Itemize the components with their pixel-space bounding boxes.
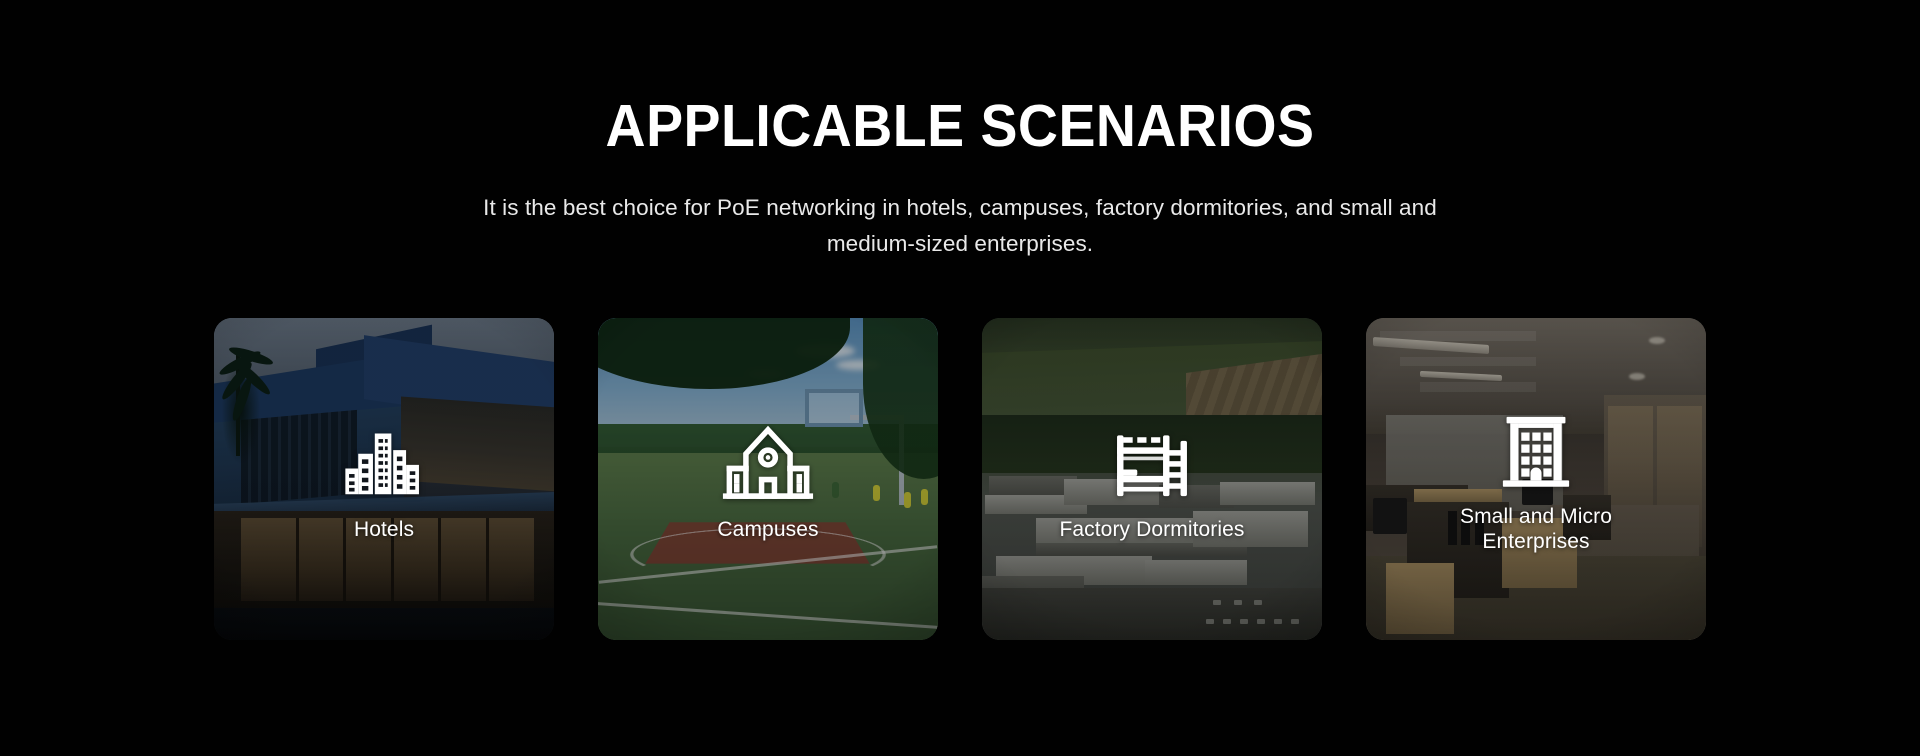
scenario-card-factory-dormitories[interactable]: Factory Dormitories — [982, 318, 1322, 640]
scenario-card-label: Hotels — [354, 517, 414, 542]
scenario-card-campuses[interactable]: Campuses — [598, 318, 938, 640]
scenario-card-label: Factory Dormitories — [1059, 517, 1244, 542]
skyscrapers-icon — [338, 417, 430, 509]
page-subtitle: It is the best choice for PoE networking… — [480, 190, 1440, 262]
scenario-card-list: Hotels — [214, 318, 1708, 640]
bunk-bed-icon — [1106, 417, 1198, 509]
scenario-card-label: Small and Micro Enterprises — [1460, 504, 1612, 554]
page-title: APPLICABLE SCENARIOS — [58, 96, 1863, 158]
school-building-icon — [722, 417, 814, 509]
scenarios-section: APPLICABLE SCENARIOS It is the best choi… — [0, 0, 1920, 756]
scenario-card-small-micro-enterprises[interactable]: Small and Micro Enterprises — [1366, 318, 1706, 640]
office-building-icon — [1490, 404, 1582, 496]
scenario-card-hotels[interactable]: Hotels — [214, 318, 554, 640]
scenario-card-label: Campuses — [717, 517, 818, 542]
